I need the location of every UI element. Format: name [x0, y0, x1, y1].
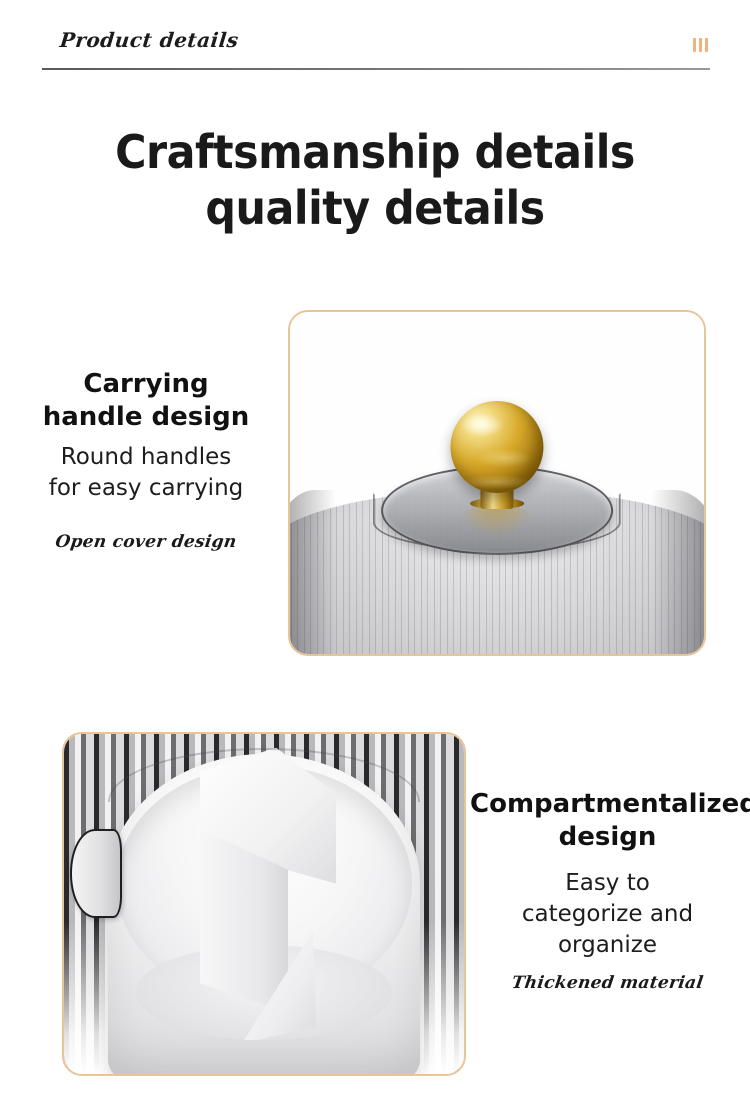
menu-bar-3 [705, 38, 708, 52]
section-2-subtext-line-1: Easy to [565, 870, 650, 896]
page-title-line-2: quality details [26, 180, 724, 236]
compartment-scene [64, 734, 464, 1074]
section-1-heading: Carrying handle design [10, 368, 282, 434]
menu-bar-1 [693, 38, 696, 52]
section-carrying-handle-text: Carrying handle design Round handles for… [10, 368, 282, 552]
lid-scene [290, 312, 704, 654]
jar-shadow-right [638, 490, 704, 654]
section-2-subtext: Easy to categorize and organize [470, 868, 745, 961]
product-image-frame-compartments [62, 732, 466, 1076]
section-1-script-note: Open cover design [9, 532, 284, 552]
header-divider [42, 68, 710, 70]
section-2-heading: Compartmentalized design [470, 788, 745, 854]
section-1-subtext-line-1: Round handles [61, 444, 231, 470]
jar-shadow-left [290, 490, 348, 654]
section-2-heading-line-2: design [559, 822, 657, 852]
section-compartmentalized-text: Compartmentalized design Easy to categor… [470, 788, 745, 993]
side-carry-handle [70, 829, 122, 917]
section-2-subtext-line-3: organize [558, 932, 657, 958]
page-title-line-1: Craftsmanship details [26, 124, 724, 180]
section-1-subtext-line-2: for easy carrying [49, 475, 244, 501]
section-2-subtext-line-2: categorize and [522, 901, 693, 927]
page-header: Product details [0, 0, 750, 80]
product-photo-glass-lid [290, 312, 704, 654]
product-photo-compartment-interior [64, 734, 464, 1074]
gold-knob-highlight [450, 401, 543, 493]
section-1-subtext: Round handles for easy carrying [10, 442, 282, 504]
page-title: Craftsmanship details quality details [26, 124, 724, 236]
header-title: Product details [59, 28, 240, 52]
menu-bars-icon[interactable] [693, 38, 708, 52]
section-1-heading-line-2: handle design [43, 402, 250, 432]
section-1-heading-line-1: Carrying [83, 369, 208, 399]
section-2-heading-line-1: Compartmentalized [470, 789, 750, 819]
section-2-script-note: Thickened material [469, 973, 747, 993]
menu-bar-2 [699, 38, 702, 52]
product-details-page: Product details Craftsmanship details qu… [0, 0, 750, 1119]
product-image-frame-lid [288, 310, 706, 656]
